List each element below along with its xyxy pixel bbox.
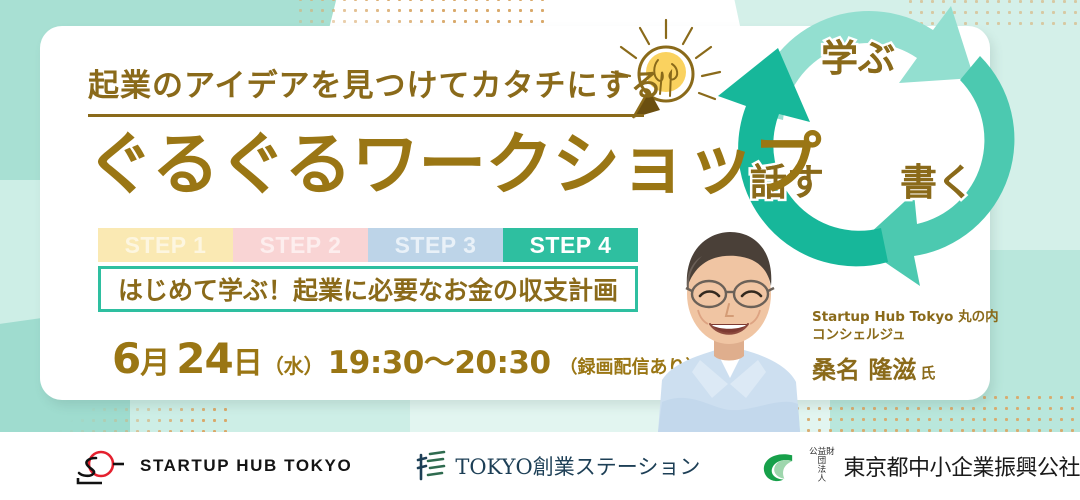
date-month: 6 [112,334,140,383]
speaker-name-row: 桑名 隆滋氏 [812,350,1002,385]
step-tab-3[interactable]: STEP 3 [368,228,503,262]
date-month-unit: 月 [140,338,170,382]
tokyo-sogyo-station-mark-icon [414,446,450,486]
step-tab-2[interactable]: STEP 2 [233,228,368,262]
logo-tokyo-sogyo-station-text: TOKYO創業ステーション [455,451,700,481]
date-day-unit: 日 [233,338,263,382]
speaker-role-line1: Startup Hub Tokyo 丸の内 [812,308,1002,326]
logo-sub-line2: 法 人 [805,466,838,484]
tokyo-smes-leaf-icon [760,446,799,486]
cycle-label-write-fill: 書く [900,152,974,206]
headline-rule [88,114,644,117]
subtitle-text: はじめて学ぶ！起業に必要なお金の収支計画 [118,271,618,307]
event-datetime: 6 月 24 日 （水） 19:30〜20:30 （録画配信あり） [112,334,704,380]
date-weekday: （水） [264,350,324,379]
logo-sub-line1: 公益財団 [805,448,838,466]
logo-tokyo-smes-corp-text: 東京都中小企業振興公社 [843,450,1080,482]
speaker-role-line2: コンシェルジュ [812,326,1002,344]
date-day: 24 [176,334,232,383]
page-title: ぐるぐるワークショップ [86,132,786,200]
footer-logo-bar: STARTUP HUB TOKYO TOKYO創業ステーション [0,432,1080,500]
speaker-name-suffix: 氏 [920,364,935,382]
step-tab-4-active[interactable]: STEP 4 [503,228,638,262]
headline: 起業のアイデアを見つけてカタチにする [88,60,628,105]
event-banner: 学ぶ 学ぶ 書く 書く 話す 話す [0,0,1080,500]
event-time: 19:30〜20:30 [328,337,551,382]
logo-tokyo-sogyo-station[interactable]: TOKYO創業ステーション [414,446,700,486]
step-tab-1[interactable]: STEP 1 [98,228,233,262]
logo-startup-hub-tokyo[interactable]: STARTUP HUB TOKYO [70,446,352,486]
logo-tokyo-smes-corp-sub: 公益財団 法 人 [805,448,838,484]
speaker-name: 桑名 隆滋 [812,356,916,384]
speaker-portrait-svg [640,212,818,432]
startup-hub-tokyo-mark-icon [70,446,132,486]
speaker-photo [640,212,818,432]
step-tabs: STEP 1 STEP 2 STEP 3 STEP 4 [98,228,638,262]
logo-startup-hub-tokyo-text: STARTUP HUB TOKYO [140,456,352,476]
speaker-info: Startup Hub Tokyo 丸の内 コンシェルジュ 桑名 隆滋氏 [812,308,1002,385]
cycle-label-learn-fill: 学ぶ [821,28,895,82]
logo-tokyo-smes-corp[interactable]: 公益財団 法 人 東京都中小企業振興公社 [760,446,1080,486]
subtitle-box: はじめて学ぶ！起業に必要なお金の収支計画 [98,266,638,312]
